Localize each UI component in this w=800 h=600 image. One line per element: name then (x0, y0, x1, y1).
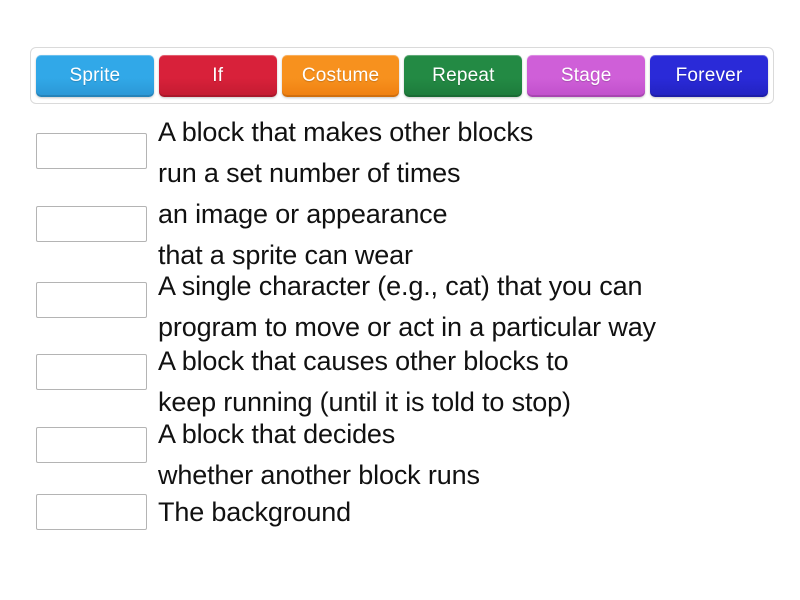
answer-tiles-panel: Sprite If Costume Repeat Stage Forever (30, 47, 774, 104)
answer-drop-target[interactable] (36, 206, 147, 242)
answer-tile-forever[interactable]: Forever (650, 55, 768, 97)
answer-drop-target[interactable] (36, 354, 147, 390)
match-row: A block that decides whether another blo… (0, 414, 800, 492)
answer-tile-label: Stage (561, 65, 612, 87)
answer-tile-if[interactable]: If (159, 55, 277, 97)
definition-text: A block that decides whether another blo… (158, 414, 486, 496)
answer-tile-label: Costume (302, 65, 379, 87)
answer-tile-sprite[interactable]: Sprite (36, 55, 154, 97)
definition-text: The background (158, 492, 357, 533)
match-row: A single character (e.g., cat) that you … (0, 266, 800, 341)
answer-tile-label: If (212, 65, 223, 87)
answer-tile-label: Sprite (69, 65, 120, 87)
answer-drop-target[interactable] (36, 282, 147, 318)
answer-tile-costume[interactable]: Costume (282, 55, 400, 97)
definition-text: A block that causes other blocks to keep… (158, 341, 577, 423)
answer-drop-target[interactable] (36, 427, 147, 463)
match-row: A block that makes other blocks run a se… (0, 112, 800, 194)
definition-rows: A block that makes other blocks run a se… (0, 112, 800, 542)
definition-text: A block that makes other blocks run a se… (158, 112, 539, 194)
match-row: A block that causes other blocks to keep… (0, 341, 800, 414)
answer-tile-stage[interactable]: Stage (527, 55, 645, 97)
match-row: The background (0, 492, 800, 542)
answer-tile-repeat[interactable]: Repeat (404, 55, 522, 97)
match-row: an image or appearance that a sprite can… (0, 194, 800, 266)
answer-tile-label: Forever (676, 65, 743, 87)
definition-text: an image or appearance that a sprite can… (158, 194, 453, 276)
answer-drop-target[interactable] (36, 494, 147, 530)
answer-drop-target[interactable] (36, 133, 147, 169)
definition-text: A single character (e.g., cat) that you … (158, 266, 662, 348)
answer-tile-label: Repeat (432, 65, 494, 87)
activity-stage: Sprite If Costume Repeat Stage Forever A… (0, 0, 800, 600)
